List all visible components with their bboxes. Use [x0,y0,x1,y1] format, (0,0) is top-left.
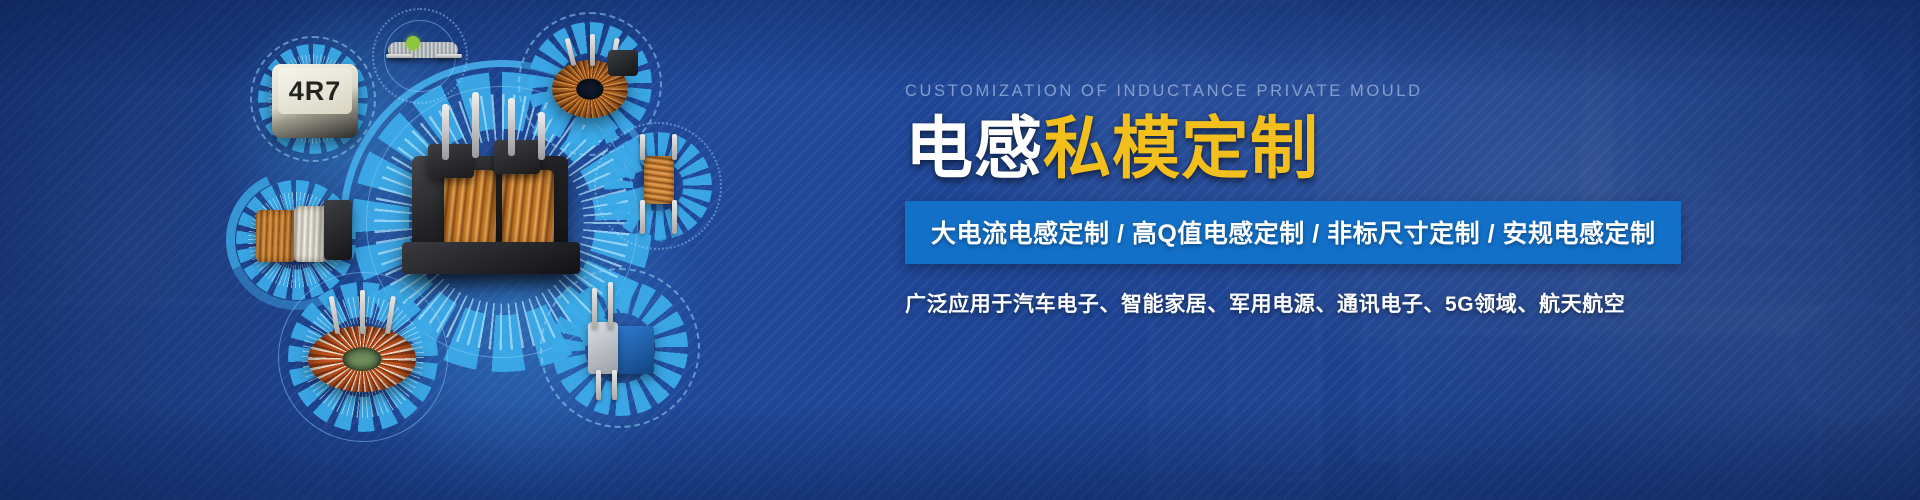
choke-pin [472,92,479,158]
product-rod-core-choke [622,140,694,238]
choke-top-cap [494,140,540,174]
choke-pin [442,104,449,160]
coil-core-dot [406,36,420,50]
smd-chip-label: 4R7 [278,68,352,114]
banner-subline: 广泛应用于汽车电子、智能家居、军用电源、通讯电子、5G领域、航天航空 [905,288,1605,318]
product-smd-power-inductor: 4R7 [272,64,358,138]
bobbin-winding [256,210,296,262]
product-bobbin-inductor [252,196,356,282]
toroid-core [308,326,416,392]
toroid-lead [329,296,341,334]
bobbin-bracket [324,200,352,260]
headline-part-white: 电感 [905,111,1043,187]
rod-lead [640,200,645,234]
coil-lead [436,54,462,58]
inductor-lead [596,370,601,400]
rod-lead [672,134,677,160]
coil-lead [386,54,412,58]
promo-banner: 4R7 [0,0,1920,500]
inductor-lead [612,370,617,400]
choke-top-cap [428,144,474,178]
rod-winding [644,156,674,204]
rod-lead [640,134,645,160]
banner-copy: CUSTOMIZATION OF INDUCTANCE PRIVATE MOUL… [905,82,1605,318]
choke-pin [538,112,545,160]
toroid-lead [385,296,396,334]
smd-chip-body: 4R7 [272,64,358,138]
inductor-grey-body [588,322,618,374]
product-air-core-coil-inductor [386,22,460,84]
product-radial-blue-inductor [578,296,664,400]
service-tag-bar[interactable]: 大电流电感定制 / 高Q值电感定制 / 非标尺寸定制 / 安规电感定制 [905,201,1681,264]
choke-baseplate [402,242,580,274]
choke-pin [508,98,515,156]
inductor-lead [592,288,597,328]
rod-lead [672,200,677,234]
inductor-lead [608,282,613,328]
product-common-mode-choke-large [398,118,584,282]
service-tag-bar-label: 大电流电感定制 / 高Q值电感定制 / 非标尺寸定制 / 安规电感定制 [931,220,1655,248]
choke-base [608,50,638,76]
bobbin-winding [294,206,328,262]
toroid-lead [360,290,365,334]
product-toroid-green-core [304,300,424,406]
banner-eyebrow: CUSTOMIZATION OF INDUCTANCE PRIVATE MOUL… [905,82,1605,101]
choke-lead [590,34,595,66]
headline-part-gold: 私模定制 [1043,111,1319,187]
banner-headline: 电感私模定制 [905,113,1605,185]
